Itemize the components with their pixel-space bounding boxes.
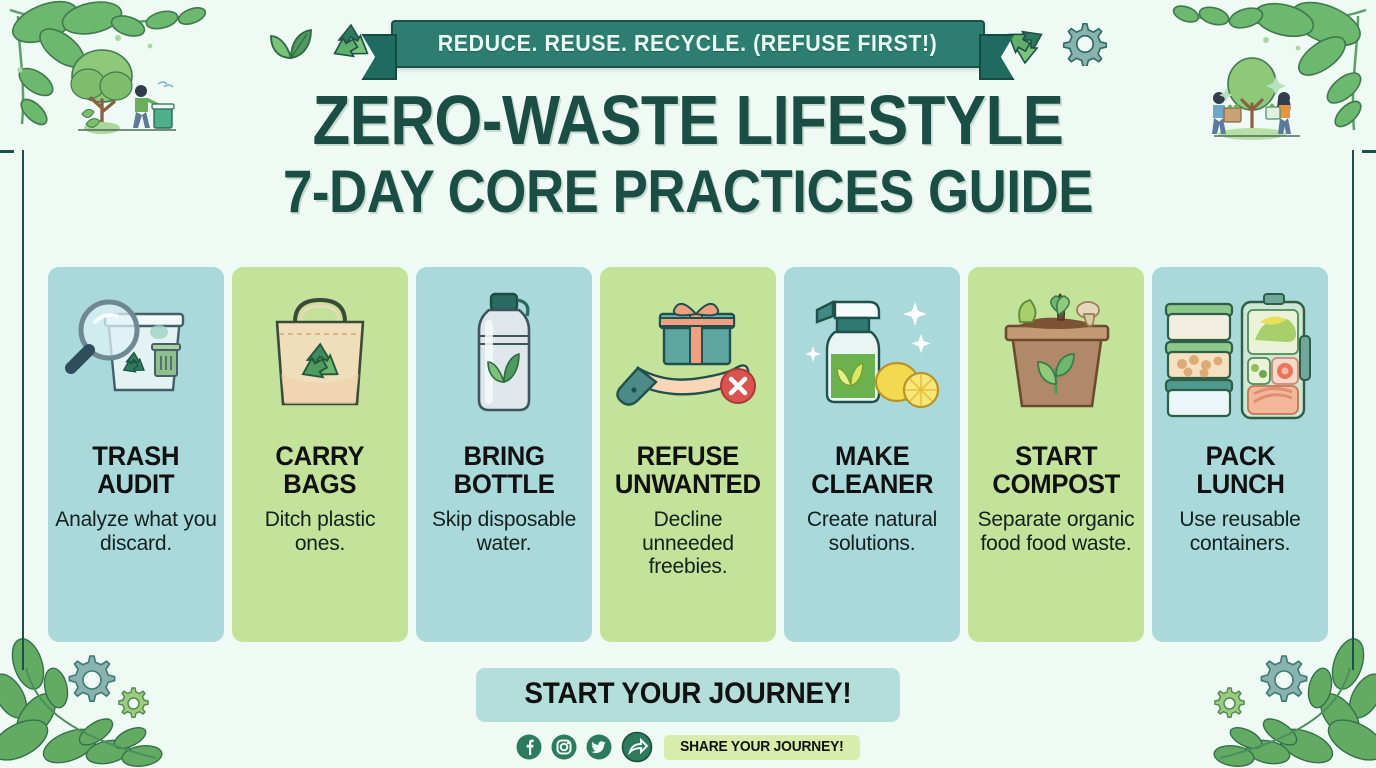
instagram-icon[interactable] [551, 734, 577, 760]
left-border-line [22, 150, 24, 670]
page-title: ZERO-WASTE LIFESTYLE 7-DAY CORE PRACTICE… [0, 86, 1376, 221]
card-title: PACK LUNCH [1196, 443, 1284, 499]
card-art [606, 283, 770, 433]
card-make-cleaner[interactable]: MAKE CLEANER Create natural solutions. [784, 267, 960, 642]
card-art [422, 283, 586, 433]
card-trash-audit[interactable]: TRASH AUDIT Analyze what you discard. [48, 267, 224, 642]
spray-bottle-lemon-icon [797, 286, 947, 431]
hand-gift-refuse-icon [608, 286, 768, 431]
card-art [1158, 283, 1322, 433]
card-title: REFUSE UNWANTED [615, 443, 761, 499]
facebook-icon[interactable] [516, 734, 542, 760]
share-arrow-icon[interactable] [621, 731, 653, 763]
twitter-icon[interactable] [586, 734, 612, 760]
banner-left-icons [269, 21, 375, 67]
right-border-line [1352, 150, 1354, 670]
card-description: Create natural solutions. [790, 508, 954, 556]
card-description: Use reusable containers. [1158, 508, 1322, 556]
tote-bag-icon [255, 288, 385, 428]
card-description: Analyze what you discard. [54, 508, 218, 556]
start-your-journey-button[interactable]: START YOUR JOURNEY! [476, 668, 900, 722]
cta-label: START YOUR JOURNEY! [524, 677, 851, 711]
card-pack-lunch[interactable]: PACK LUNCH Use reusable containers. [1152, 267, 1328, 642]
tagline-text: REDUCE. REUSE. RECYCLE. (REFUSE FIRST!) [438, 30, 938, 57]
card-carry-bags[interactable]: CARRY BAGS Ditch plastic ones. [232, 267, 408, 642]
magnifier-trashbin-icon [61, 288, 211, 428]
gear-icon [1063, 22, 1107, 66]
compost-bin-icon [984, 286, 1129, 431]
social-row: SHARE YOUR JOURNEY! [516, 731, 860, 763]
card-description: Skip disposable water. [422, 508, 586, 556]
card-title: CARRY BAGS [276, 443, 365, 499]
banner-right-icons [1001, 21, 1107, 67]
title-line-1: ZERO-WASTE LIFESTYLE [83, 86, 1294, 155]
tagline-ribbon: REDUCE. REUSE. RECYCLE. (REFUSE FIRST!) [391, 20, 984, 68]
leaf-icon [269, 22, 313, 66]
lunch-containers-icon [1160, 286, 1320, 431]
share-label: SHARE YOUR JOURNEY! [680, 738, 843, 755]
water-bottle-icon [449, 286, 559, 431]
title-line-2: 7-DAY CORE PRACTICES GUIDE [83, 163, 1294, 222]
card-description: Decline unneeded freebies. [606, 508, 770, 580]
share-your-journey-button[interactable]: SHARE YOUR JOURNEY! [664, 735, 860, 760]
practice-cards: TRASH AUDIT Analyze what you discard. [48, 267, 1328, 642]
card-bring-bottle[interactable]: BRING BOTTLE Skip disposable water. [416, 267, 592, 642]
card-title: TRASH AUDIT [93, 443, 180, 499]
card-art [54, 283, 218, 433]
card-title: BRING BOTTLE [454, 443, 555, 499]
card-description: Separate organic food food waste. [974, 508, 1138, 556]
card-art [974, 283, 1138, 433]
card-art [790, 283, 954, 433]
card-refuse-unwanted[interactable]: REFUSE UNWANTED Decline unneeded freebie… [600, 267, 776, 642]
card-description: Ditch plastic ones. [238, 508, 402, 556]
infographic-poster: REDUCE. REUSE. RECYCLE. (REFUSE FIRST!) … [0, 0, 1376, 768]
banner-row: REDUCE. REUSE. RECYCLE. (REFUSE FIRST!) [0, 20, 1376, 68]
footer: START YOUR JOURNEY! SHARE YOU [0, 668, 1376, 763]
card-title: START COMPOST [992, 443, 1120, 499]
card-title: MAKE CLEANER [811, 443, 933, 499]
card-art [238, 283, 402, 433]
card-start-compost[interactable]: START COMPOST Separate organic food food… [968, 267, 1144, 642]
